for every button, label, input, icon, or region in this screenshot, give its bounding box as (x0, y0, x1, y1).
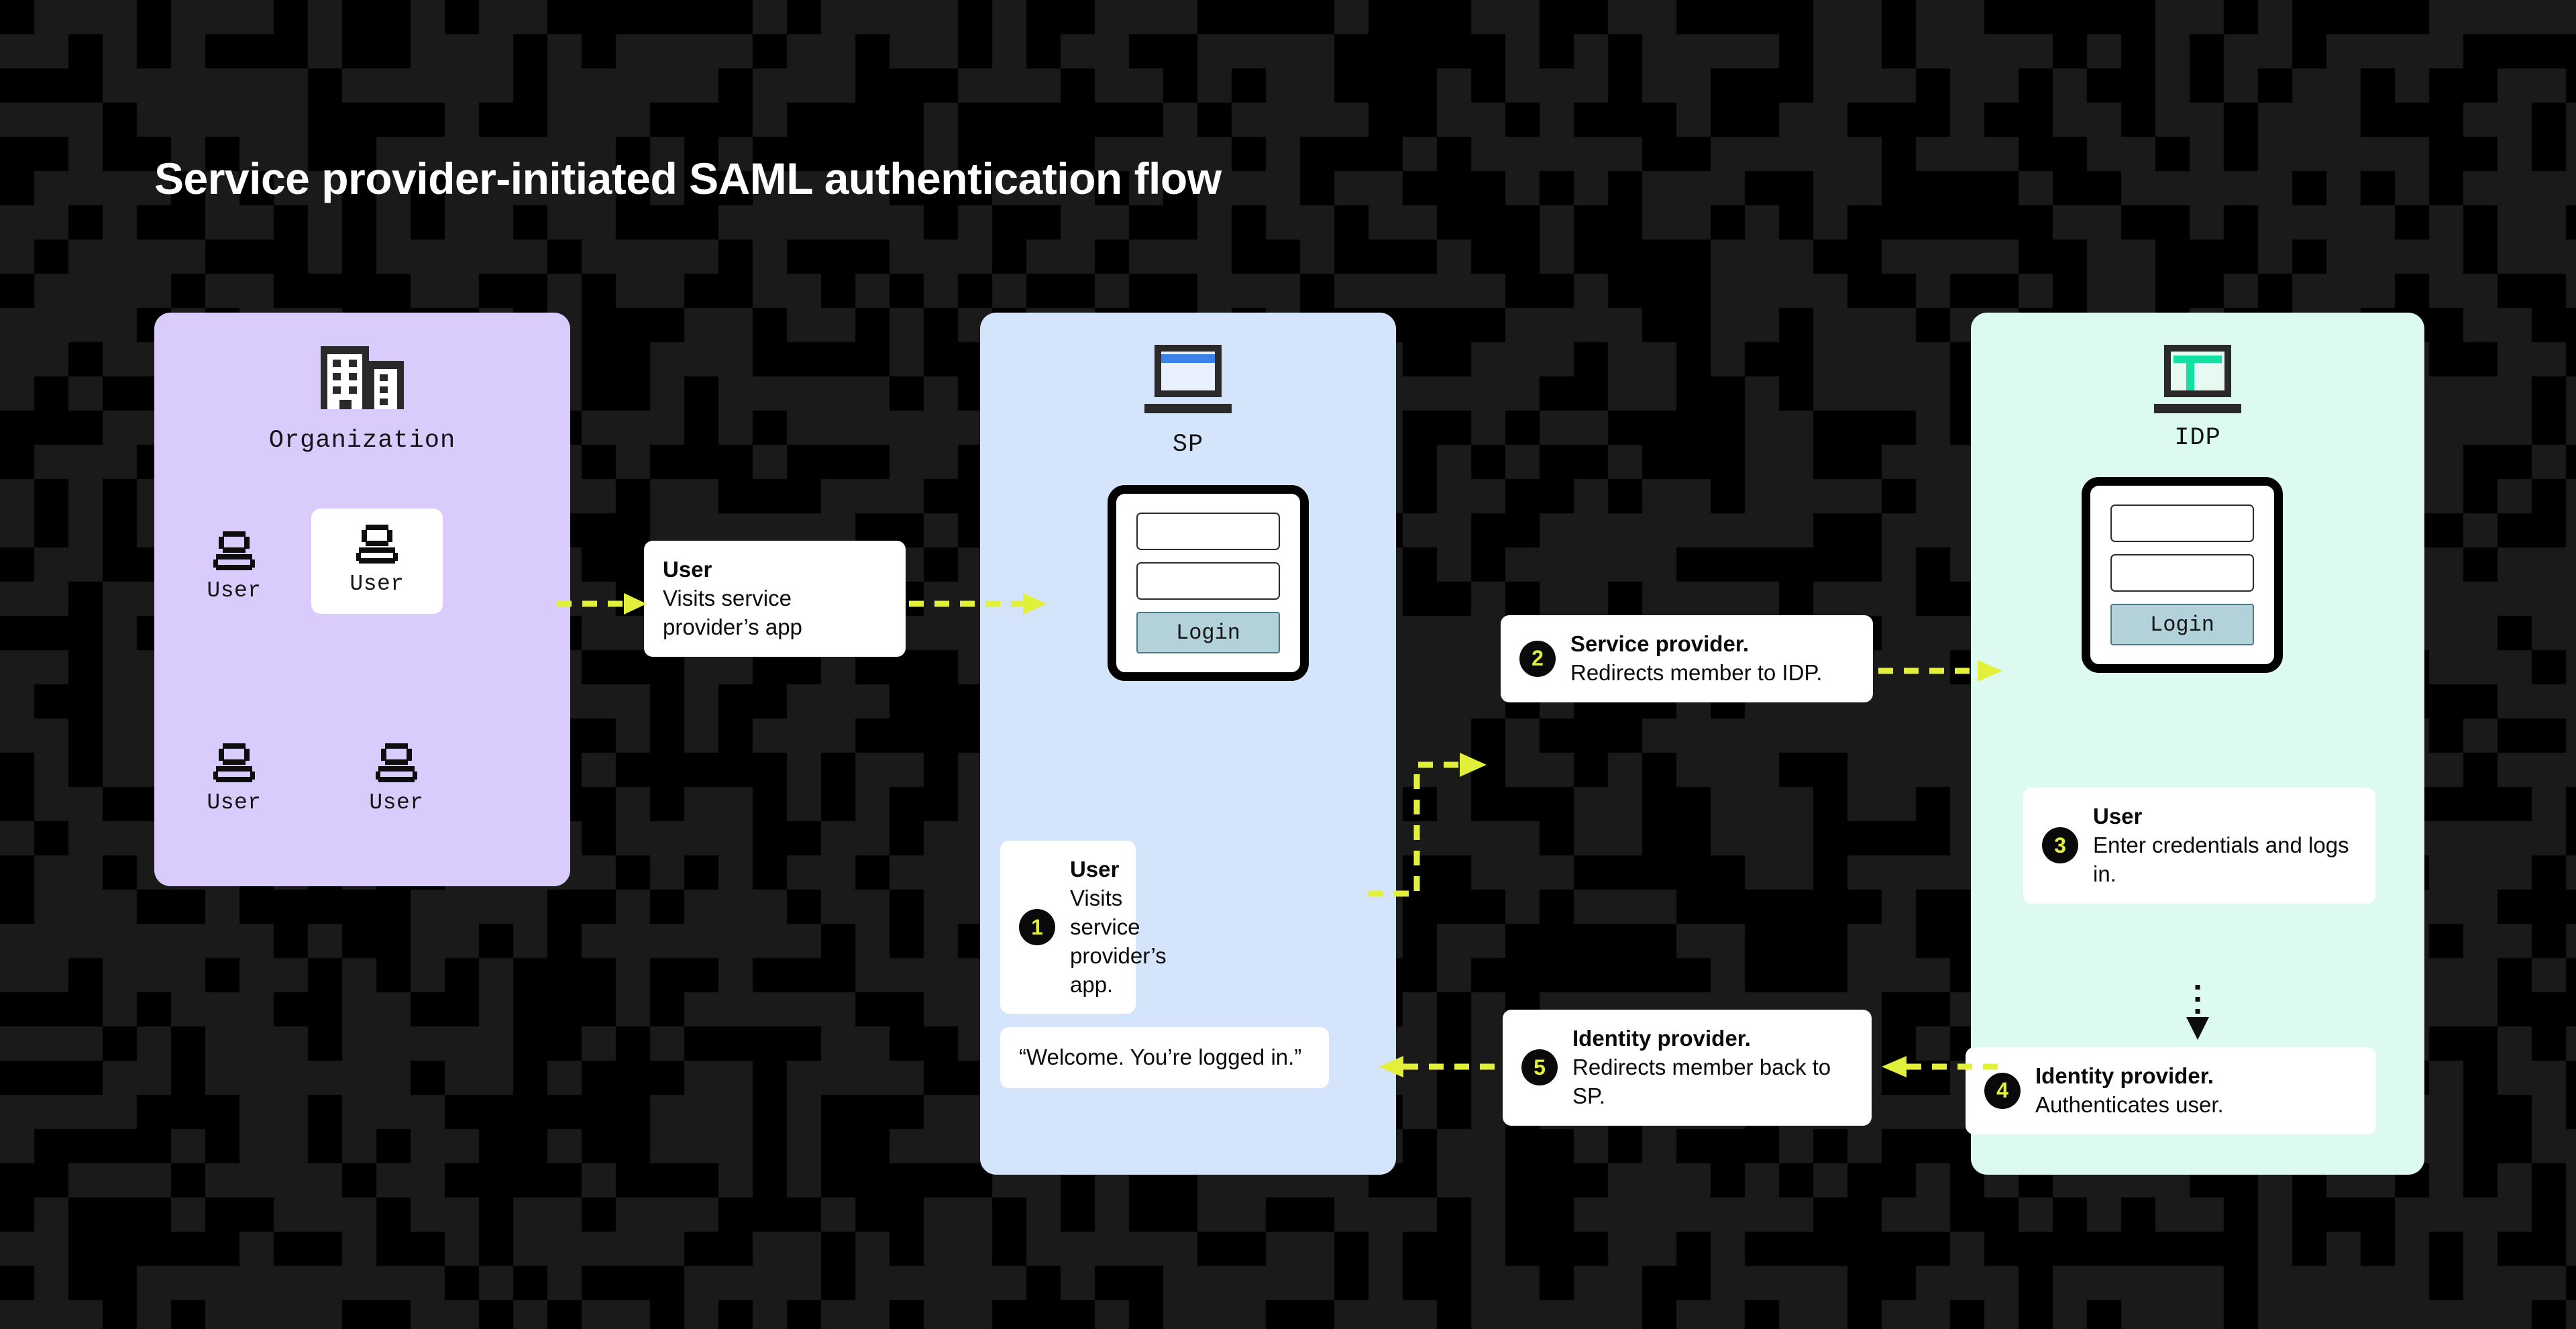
callout-intro: User Visits service provider’s app (644, 541, 906, 657)
identity-provider-panel: IDP Login 3 User Enter credentials and l… (1971, 313, 2424, 1175)
sp-login-button[interactable]: Login (1136, 612, 1280, 653)
sp-username-input[interactable] (1136, 513, 1280, 550)
idp-login-button[interactable]: Login (2110, 604, 2254, 645)
callout-step-2: 2 Service provider. Redirects member to … (1501, 615, 1873, 702)
callout-step-2-title: Service provider. (1570, 630, 1822, 659)
sp-password-input[interactable] (1136, 562, 1280, 600)
sp-label: SP (980, 431, 1396, 459)
callout-step-5-title: Identity provider. (1572, 1024, 1853, 1053)
callout-step-4-title: Identity provider. (2035, 1062, 2224, 1091)
sp-welcome-message: “Welcome. You’re logged in.” (1000, 1027, 1329, 1088)
user-icon (376, 742, 417, 784)
callout-step-4-text: Authenticates user. (2035, 1091, 2224, 1120)
service-provider-panel: SP Login 1 User Visits service provider’… (980, 313, 1396, 1175)
arrow-step2-to-idp (1878, 657, 2006, 684)
callout-step-3-title: User (2093, 802, 2357, 831)
callout-step-5-text: Redirects member back to SP. (1572, 1053, 1853, 1111)
laptop-icon (2154, 345, 2241, 417)
callout-intro-title: User (663, 555, 887, 584)
user-tile-label: User (207, 790, 261, 815)
step-badge-5: 5 (1521, 1049, 1558, 1085)
arrow-idp-to-step5 (1878, 1053, 2006, 1080)
callout-step-3-text: Enter credentials and logs in. (2093, 831, 2357, 889)
idp-login-card: Login (2082, 477, 2283, 673)
down-arrow-icon (2178, 984, 2218, 1045)
user-tile-1: User (193, 530, 275, 603)
user-tile-label: User (350, 572, 404, 596)
callout-step-5: 5 Identity provider. Redirects member ba… (1503, 1010, 1872, 1126)
user-tile-4: User (356, 742, 437, 815)
arrow-intro-to-sp (909, 590, 1050, 617)
user-icon (213, 530, 255, 572)
callout-step-1-title: User (1070, 855, 1167, 884)
idp-label: IDP (1971, 424, 2424, 452)
arrow-step5-to-sp (1375, 1053, 1503, 1080)
step-badge-1: 1 (1019, 909, 1055, 945)
callout-step-3: 3 User Enter credentials and logs in. (2023, 788, 2375, 904)
user-tile-label: User (369, 790, 423, 815)
callout-step-1-text: Visits service provider’s app. (1070, 884, 1167, 1000)
organization-panel: Organization User (154, 313, 570, 886)
arrow-org-to-intro (557, 590, 651, 617)
page-title: Service provider-initiated SAML authenti… (154, 153, 1222, 204)
callout-intro-text: Visits service provider’s app (663, 584, 887, 642)
step-badge-3: 3 (2042, 827, 2078, 863)
callout-step-1: 1 User Visits service provider’s app. (1000, 841, 1136, 1014)
callout-step-4: 4 Identity provider. Authenticates user. (1966, 1047, 2376, 1134)
laptop-icon (1144, 345, 1232, 417)
building-icon (319, 345, 405, 411)
user-tile-label: User (207, 578, 261, 603)
user-icon (356, 523, 398, 565)
organization-label: Organization (154, 427, 570, 455)
idp-username-input[interactable] (2110, 504, 2254, 542)
idp-password-input[interactable] (2110, 554, 2254, 592)
callout-step-2-text: Redirects member to IDP. (1570, 659, 1822, 688)
user-tile-highlighted[interactable]: User (311, 509, 443, 614)
user-icon (213, 742, 255, 784)
user-tile-3: User (193, 742, 275, 815)
sp-login-card: Login (1108, 485, 1309, 681)
step-badge-2: 2 (1519, 641, 1556, 677)
arrow-sp-to-step2 (1368, 751, 1529, 899)
